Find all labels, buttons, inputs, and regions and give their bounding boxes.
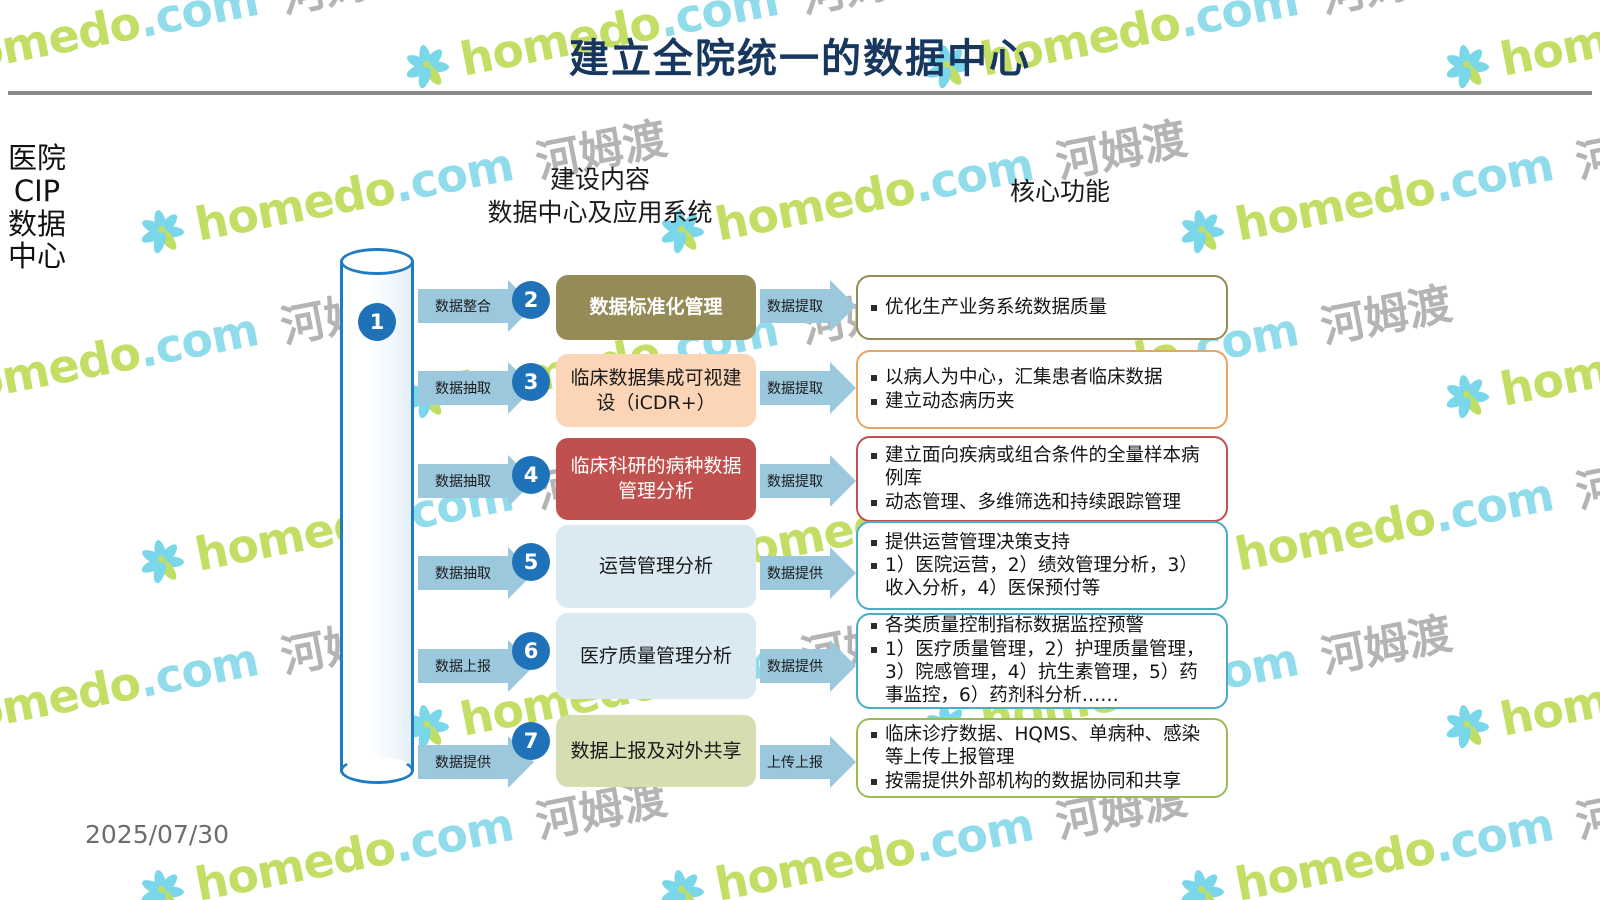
stage-box-3[interactable]: 临床数据集成可视建设（iCDR+）: [556, 354, 756, 427]
slide-canvas: homedo.com河姆渡homedo.com河姆渡homedo.com河姆渡h…: [0, 0, 1600, 900]
outcome-item: 动态管理、多维筛选和持续跟踪管理: [870, 491, 1212, 514]
arrow-in-label-6: 数据上报: [418, 649, 508, 683]
outcome-item: 建立动态病历夹: [870, 390, 1212, 413]
outcome-item: 以病人为中心，汇集患者临床数据: [870, 366, 1212, 389]
cylinder-top-ellipse: [340, 248, 414, 275]
cylinder-bottom-ellipse: [340, 757, 414, 784]
badge-6: 6: [512, 632, 550, 670]
arrow-out-6: 数据提供: [760, 640, 856, 692]
arrow-out-label-4: 数据提取: [760, 464, 830, 498]
column-header-core-functions: 核心功能: [860, 175, 1260, 208]
outcome-box-7: 临床诊疗数据、HQMS、单病种、感染等上传上报管理按需提供外部机构的数据协同和共…: [856, 718, 1228, 798]
outcome-box-5: 提供运营管理决策支持1）医院运营，2）绩效管理分析，3）收入分析，4）医保预付等: [856, 521, 1228, 610]
arrow-in-label-4: 数据抽取: [418, 464, 508, 498]
outcome-item: 1）医疗质量管理，2）护理质量管理，3）院感管理，4）抗生素管理，5）药事监控，…: [870, 638, 1212, 708]
outcome-box-3: 以病人为中心，汇集患者临床数据建立动态病历夹: [856, 350, 1228, 429]
arrow-head-icon: [830, 547, 856, 599]
stage-box-7[interactable]: 数据上报及对外共享: [556, 715, 756, 787]
outcome-box-2: 优化生产业务系统数据质量: [856, 275, 1228, 340]
arrow-out-2: 数据提取: [760, 280, 856, 332]
outcome-item: 按需提供外部机构的数据协同和共享: [870, 770, 1212, 793]
arrow-out-label-3: 数据提取: [760, 371, 830, 405]
diagram-area: 医院CIP数据中心 1 数据整合2数据标准化管理数据提取优化生产业务系统数据质量…: [0, 0, 1600, 900]
outcome-item: 建立面向疾病或组合条件的全量样本病例库: [870, 444, 1212, 491]
arrow-head-icon: [830, 640, 856, 692]
outcome-item: 临床诊疗数据、HQMS、单病种、感染等上传上报管理: [870, 723, 1212, 770]
badge-3: 3: [512, 363, 550, 401]
badge-1: 1: [358, 303, 396, 341]
arrow-in-label-7: 数据提供: [418, 745, 508, 779]
arrow-head-icon: [830, 280, 856, 332]
arrow-out-5: 数据提供: [760, 547, 856, 599]
arrow-out-4: 数据提取: [760, 455, 856, 507]
arrow-out-label-7: 上传上报: [760, 745, 830, 779]
arrow-out-label-5: 数据提供: [760, 556, 830, 590]
outcome-box-4: 建立面向疾病或组合条件的全量样本病例库动态管理、多维筛选和持续跟踪管理: [856, 436, 1228, 522]
cylinder-label: 医院CIP数据中心: [0, 142, 74, 273]
badge-7: 7: [512, 722, 550, 760]
arrow-out-7: 上传上报: [760, 736, 856, 788]
badge-2: 2: [512, 281, 550, 319]
outcome-item: 各类质量控制指标数据监控预警: [870, 614, 1212, 637]
arrow-head-icon: [830, 736, 856, 788]
badge-4: 4: [512, 456, 550, 494]
date-stamp: 2025/07/30: [85, 820, 229, 849]
arrow-head-icon: [830, 362, 856, 414]
badge-5: 5: [512, 543, 550, 581]
outcome-item: 提供运营管理决策支持: [870, 531, 1212, 554]
arrow-out-3: 数据提取: [760, 362, 856, 414]
stage-box-4[interactable]: 临床科研的病种数据管理分析: [556, 438, 756, 520]
column-header-build-line1: 建设内容: [450, 163, 750, 196]
outcome-item: 优化生产业务系统数据质量: [870, 296, 1212, 319]
stage-box-5[interactable]: 运营管理分析: [556, 525, 756, 608]
arrow-head-icon: [830, 455, 856, 507]
outcome-item: 1）医院运营，2）绩效管理分析，3）收入分析，4）医保预付等: [870, 554, 1212, 601]
outcome-box-6: 各类质量控制指标数据监控预警1）医疗质量管理，2）护理质量管理，3）院感管理，4…: [856, 613, 1228, 709]
column-header-build-line2: 数据中心及应用系统: [450, 196, 750, 229]
arrow-out-label-2: 数据提取: [760, 289, 830, 323]
arrow-in-label-3: 数据抽取: [418, 371, 508, 405]
stage-box-6[interactable]: 医疗质量管理分析: [556, 613, 756, 699]
arrow-in-label-2: 数据整合: [418, 289, 508, 323]
arrow-in-label-5: 数据抽取: [418, 556, 508, 590]
arrow-out-label-6: 数据提供: [760, 649, 830, 683]
stage-box-2[interactable]: 数据标准化管理: [556, 275, 756, 340]
column-header-build-content: 建设内容 数据中心及应用系统: [450, 163, 750, 229]
